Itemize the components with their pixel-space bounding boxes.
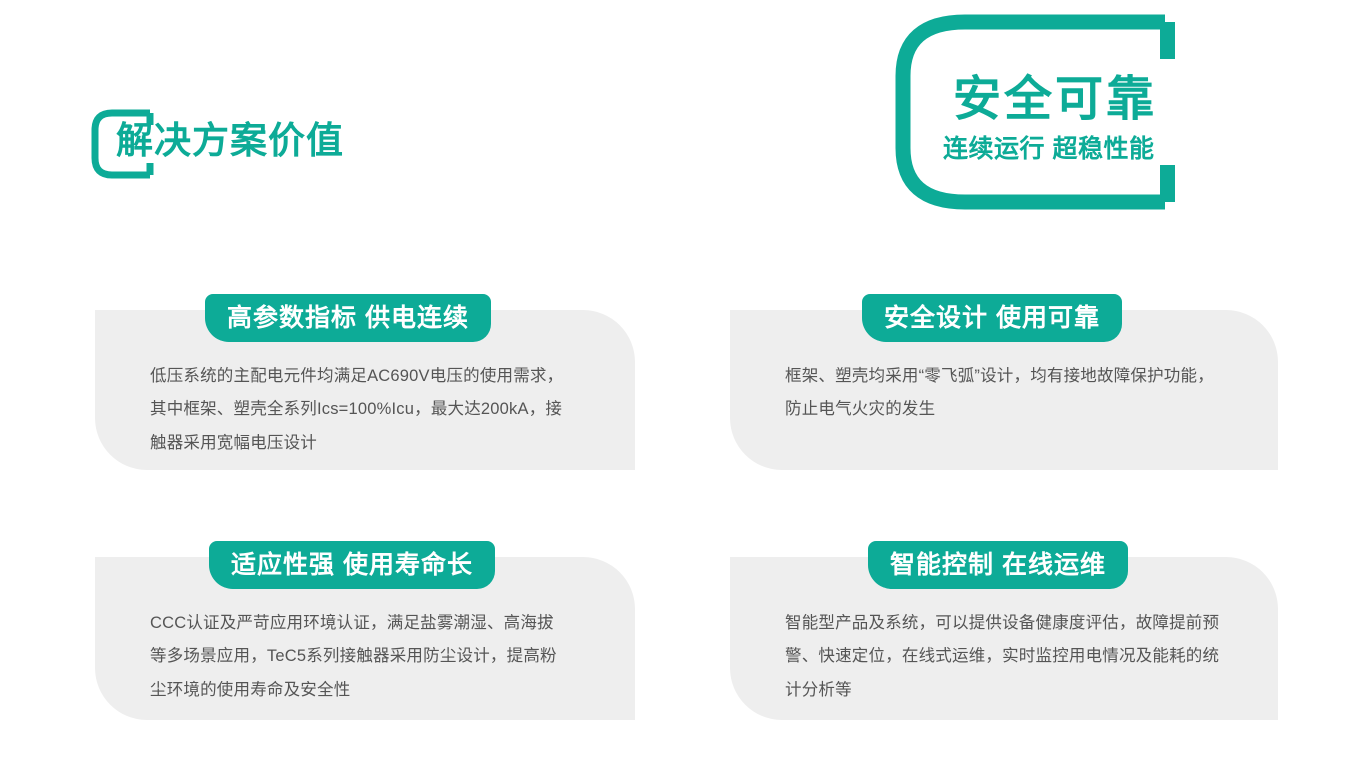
feature-card-body: 智能型产品及系统，可以提供设备健康度评估，故障提前预警、快速定位，在线式运维，实… xyxy=(785,607,1225,707)
status-badge: 智能控制 在线运维 xyxy=(868,541,1128,589)
status-badge: 安全设计 使用可靠 xyxy=(862,294,1122,342)
status-badge: 适应性强 使用寿命长 xyxy=(209,541,495,589)
feature-card-body: CCC认证及严苛应用环境认证，满足盐雾潮湿、高海拔等多场景应用，TeC5系列接触… xyxy=(150,607,570,707)
status-badge: 高参数指标 供电连续 xyxy=(205,294,491,342)
feature-cards-grid: 高参数指标 供电连续 低压系统的主配电元件均满足AC690V电压的使用需求，其中… xyxy=(0,0,1350,782)
feature-card-body: 框架、塑壳均采用“零飞弧”设计，均有接地故障保护功能，防止电气火灾的发生 xyxy=(785,360,1215,427)
feature-card-body: 低压系统的主配电元件均满足AC690V电压的使用需求，其中框架、塑壳全系列Ics… xyxy=(150,360,570,460)
page-canvas: 解决方案价值 安全可靠 连续运行 超稳性能 高参数指标 供电连续 低压系统的主配… xyxy=(0,0,1350,782)
